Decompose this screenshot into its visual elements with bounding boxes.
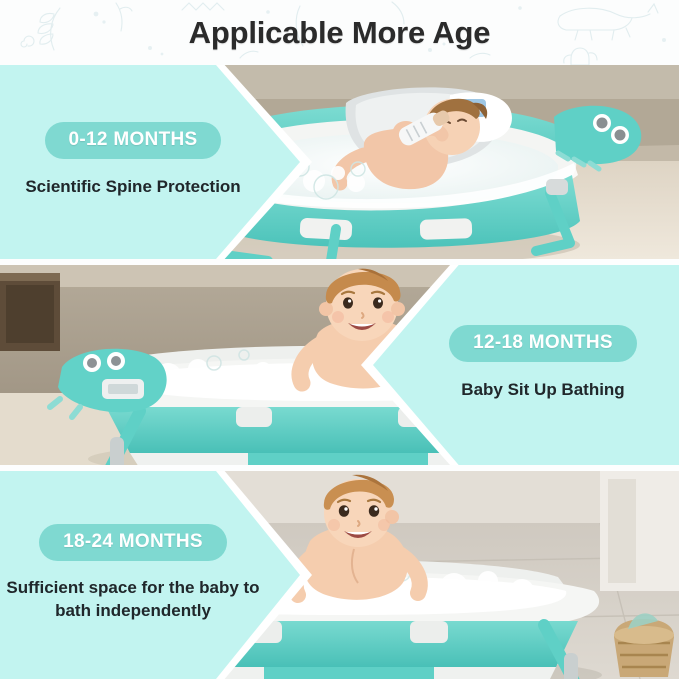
feature-description-0-12-months: Scientific Spine Protection (25, 176, 240, 199)
page-title: Applicable More Age (0, 0, 679, 65)
row-18-24-months: 18-24 MONTHS Sufficient space for the ba… (0, 471, 679, 679)
age-badge-18-24-months: 18-24 MONTHS (39, 524, 227, 561)
row-0-12-months: 0-12 MONTHS Scientific Spine Protection (0, 65, 679, 259)
age-badge-12-18-months: 12-18 MONTHS (449, 325, 637, 362)
header: Applicable More Age (0, 0, 679, 65)
infographic-page: Applicable More Age (0, 0, 679, 679)
feature-description-12-18-months: Baby Sit Up Bathing (461, 379, 624, 402)
row-12-18-months: 12-18 MONTHS Baby Sit Up Bathing (0, 265, 679, 465)
age-badge-0-12-months: 0-12 MONTHS (45, 122, 222, 159)
feature-description-18-24-months: Sufficient space for the baby to bath in… (0, 577, 268, 622)
